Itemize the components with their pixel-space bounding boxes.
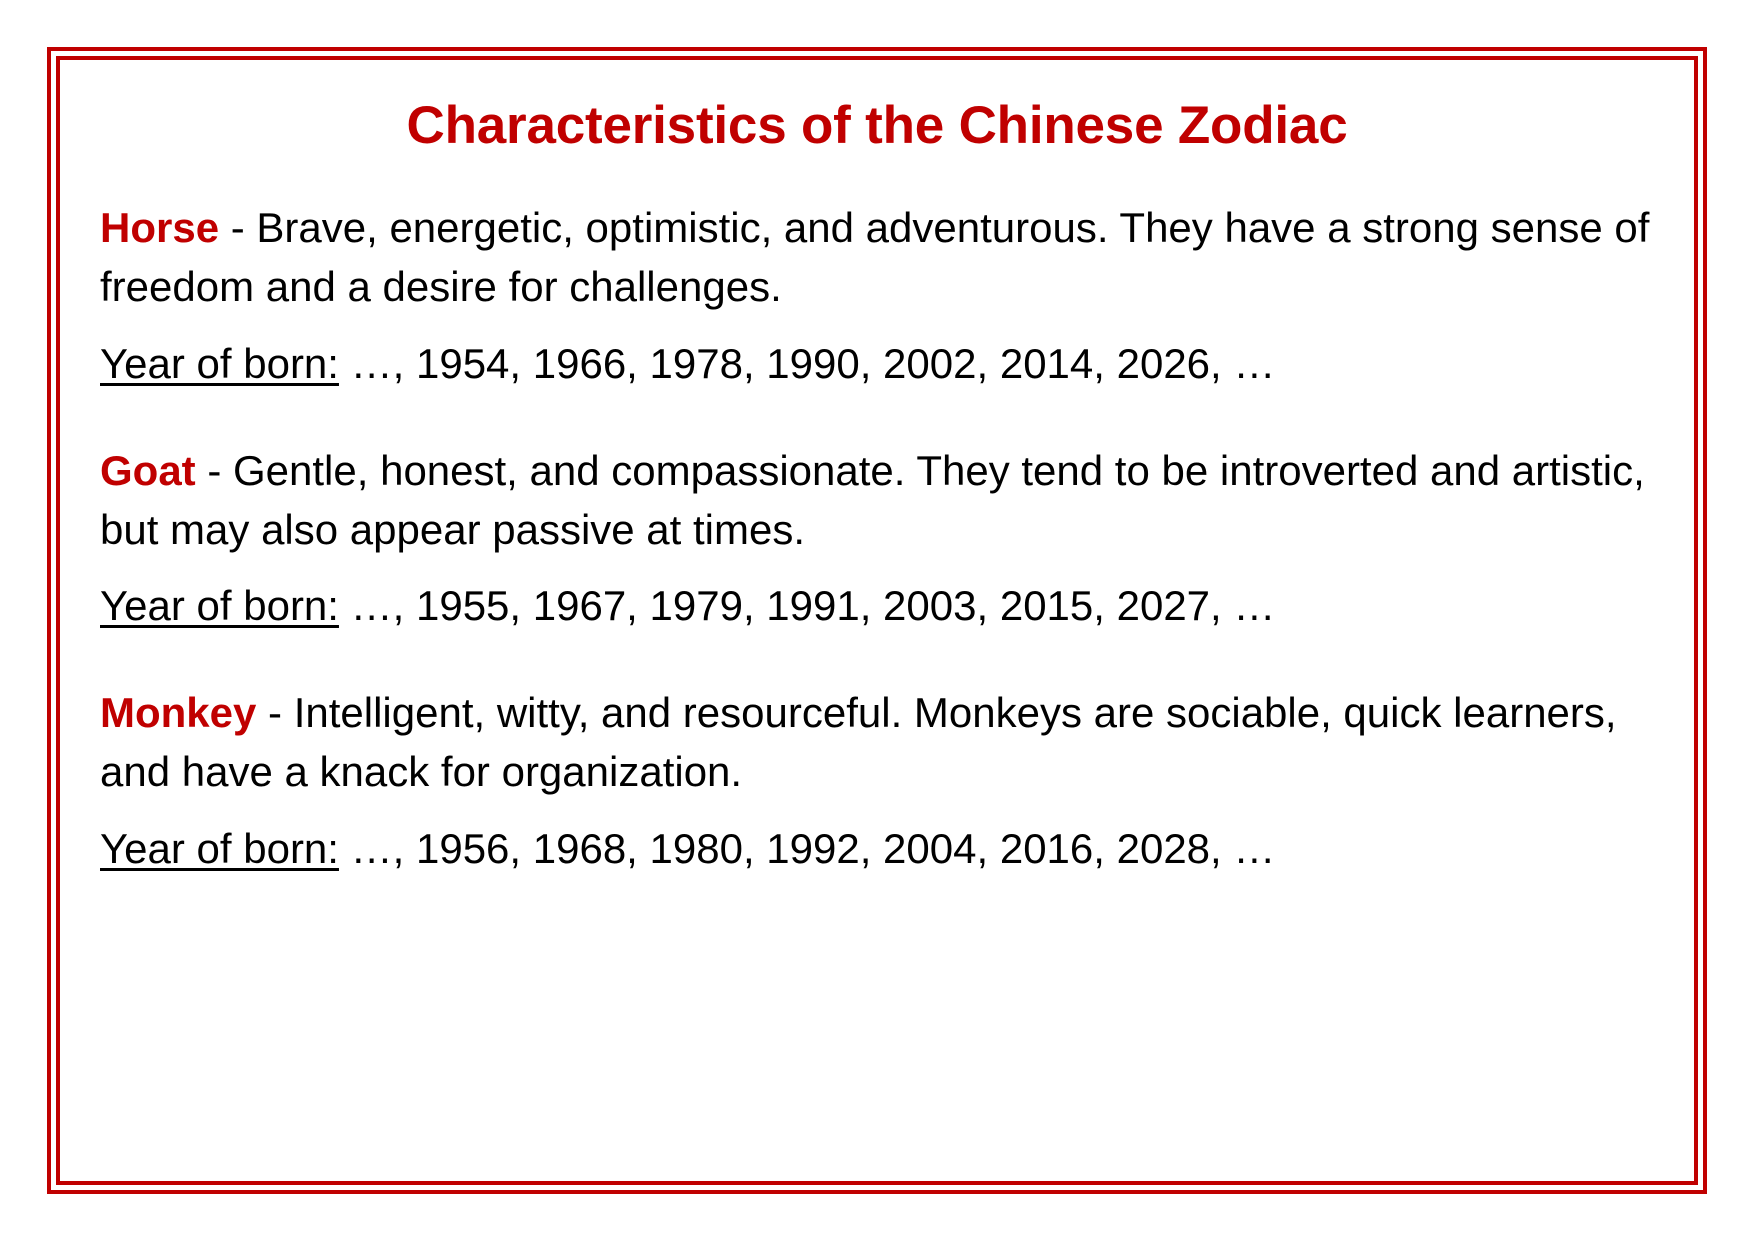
zodiac-description: Horse - Brave, energetic, optimistic, an… bbox=[100, 199, 1654, 317]
separator: - bbox=[196, 447, 233, 494]
zodiac-entry-goat: Goat - Gentle, honest, and compassionate… bbox=[100, 442, 1654, 636]
years-values: …, 1955, 1967, 1979, 1991, 2003, 2015, 2… bbox=[339, 582, 1275, 629]
separator: - bbox=[256, 689, 293, 736]
animal-name-monkey: Monkey bbox=[100, 689, 256, 736]
animal-name-horse: Horse bbox=[100, 204, 219, 251]
years-label: Year of born: bbox=[100, 340, 339, 387]
zodiac-description: Monkey - Intelligent, witty, and resourc… bbox=[100, 684, 1654, 802]
zodiac-entry-list: Horse - Brave, energetic, optimistic, an… bbox=[100, 199, 1654, 878]
description-text: Gentle, honest, and compassionate. They … bbox=[100, 447, 1645, 553]
page-title: Characteristics of the Chinese Zodiac bbox=[100, 96, 1654, 155]
animal-name-goat: Goat bbox=[100, 447, 196, 494]
zodiac-years-line: Year of born: …, 1954, 1966, 1978, 1990,… bbox=[100, 335, 1654, 394]
zodiac-description: Goat - Gentle, honest, and compassionate… bbox=[100, 442, 1654, 560]
slide: Characteristics of the Chinese Zodiac Ho… bbox=[0, 0, 1754, 1241]
separator: - bbox=[219, 204, 256, 251]
slide-content: Characteristics of the Chinese Zodiac Ho… bbox=[100, 96, 1654, 1161]
zodiac-years-line: Year of born: …, 1955, 1967, 1979, 1991,… bbox=[100, 577, 1654, 636]
zodiac-years-line: Year of born: …, 1956, 1968, 1980, 1992,… bbox=[100, 820, 1654, 879]
description-text: Intelligent, witty, and resourceful. Mon… bbox=[100, 689, 1617, 795]
years-label: Year of born: bbox=[100, 582, 339, 629]
zodiac-entry-monkey: Monkey - Intelligent, witty, and resourc… bbox=[100, 684, 1654, 878]
years-values: …, 1956, 1968, 1980, 1992, 2004, 2016, 2… bbox=[339, 825, 1275, 872]
years-label: Year of born: bbox=[100, 825, 339, 872]
zodiac-entry-horse: Horse - Brave, energetic, optimistic, an… bbox=[100, 199, 1654, 393]
description-text: Brave, energetic, optimistic, and advent… bbox=[100, 204, 1649, 310]
years-values: …, 1954, 1966, 1978, 1990, 2002, 2014, 2… bbox=[339, 340, 1275, 387]
